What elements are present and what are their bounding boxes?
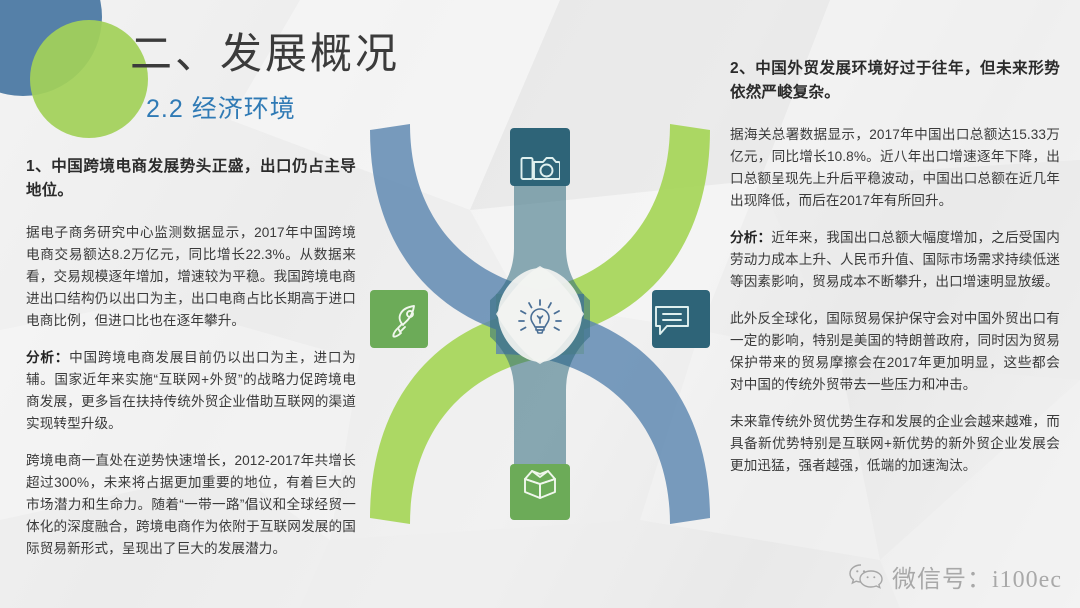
left-text-column: 1、中国跨境电商发展势头正盛，出口仍占主导地位。 据电子商务研究中心监测数据显示… [26,155,356,560]
right-analysis-label: 分析： [730,230,771,245]
open-box-icon[interactable] [517,460,563,506]
decorative-circles [0,0,144,128]
right-paragraph-3: 此外反全球化，国际贸易保护保守会对中国外贸出口有一定的影响，特别是美国的特朗普政… [730,308,1060,396]
right-text-column: 2、中国外贸发展环境好过于往年，但未来形势依然严峻复杂。 据海关总署数据显示，2… [730,57,1060,477]
left-paragraph-1: 据电子商务研究中心监测数据显示，2017年中国跨境电商交易额达8.2万亿元，同比… [26,222,356,332]
left-analysis-paragraph: 分析：中国跨境电商发展目前仍以出口为主，进口为辅。国家近年来实施“互联网+外贸”… [26,347,356,435]
right-paragraph-1: 据海关总署数据显示，2017年中国出口总额达15.33万亿元，同比增长10.8%… [730,124,1060,212]
left-heading: 1、中国跨境电商发展势头正盛，出口仍占主导地位。 [26,155,356,203]
left-paragraph-3: 跨境电商一直处在逆势快速增长，2012-2017年共增长超过300%，未来将占据… [26,450,356,560]
right-paragraph-4: 未来靠传统外贸优势生存和发展的企业会越来越难，而具备新优势特别是互联网+新优势的… [730,411,1060,477]
chat-bubble-icon[interactable] [649,298,695,344]
watermark-text: 微信号：i100ec [892,559,1062,594]
wechat-icon [849,563,883,591]
rocket-icon[interactable] [384,298,430,344]
right-analysis-text: 近年来，我国出口总额大幅度增加，之后受国内劳动力成本上升、人民币升值、国际市场需… [730,230,1060,289]
page-subtitle: 2.2 经济环境 [146,89,400,125]
slide-header: 二、发展概况 2.2 经济环境 [130,28,400,125]
lightbulb-icon[interactable] [517,298,563,344]
right-analysis-paragraph: 分析：近年来，我国出口总额大幅度增加，之后受国内劳动力成本上升、人民币升值、国际… [730,227,1060,293]
left-analysis-label: 分析： [26,350,69,365]
right-heading: 2、中国外贸发展环境好过于往年，但未来形势依然严峻复杂。 [730,57,1060,105]
wechat-watermark: 微信号：i100ec [849,559,1062,594]
slide-canvas: 二、发展概况 2.2 经济环境 1、中国跨境电商发展势头正盛，出口仍占主导地位。… [0,0,1080,608]
left-analysis-text: 中国跨境电商发展目前仍以出口为主，进口为辅。国家近年来实施“互联网+外贸”的战略… [26,350,356,431]
page-title: 二、发展概况 [130,28,400,81]
camera-icon[interactable] [517,144,563,190]
central-diamond-infographic [370,118,710,530]
